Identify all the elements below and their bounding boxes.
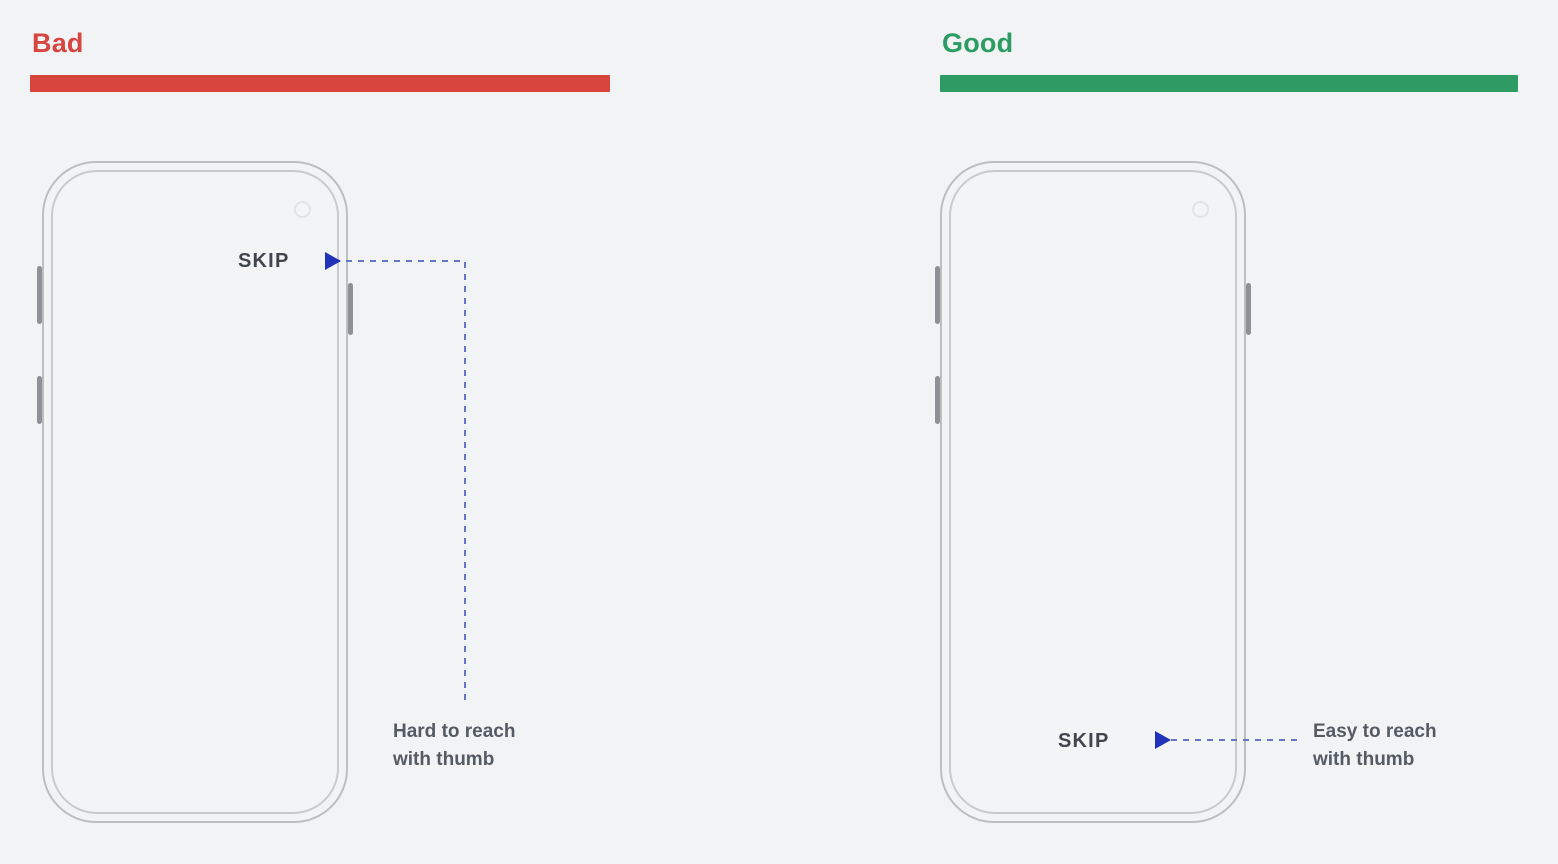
panel-accent-rule-bad: [30, 75, 610, 92]
phone-screen: [51, 170, 339, 814]
volume-button[interactable]: [935, 376, 940, 424]
panel-header-good: Good: [940, 30, 1518, 92]
camera-dot-icon: [294, 201, 311, 218]
volume-button[interactable]: [37, 376, 42, 424]
power-button[interactable]: [348, 283, 353, 335]
panel-accent-rule-good: [940, 75, 1518, 92]
comparison-diagram: Bad Good SKIP SKIP: [0, 0, 1558, 864]
panel-header-bad: Bad: [30, 30, 610, 92]
power-button[interactable]: [1246, 283, 1251, 335]
mute-switch-button[interactable]: [37, 266, 42, 324]
camera-dot-icon: [1192, 201, 1209, 218]
callout-text-bad: Hard to reach with thumb: [393, 718, 515, 773]
phone-mockup-bad: [42, 161, 348, 823]
callout-text-good: Easy to reach with thumb: [1313, 718, 1437, 773]
panel-title-bad: Bad: [32, 30, 610, 57]
skip-button-bad[interactable]: SKIP: [238, 251, 289, 271]
phone-screen: [949, 170, 1237, 814]
panel-title-good: Good: [942, 30, 1518, 57]
skip-button-good[interactable]: SKIP: [1058, 731, 1109, 751]
phone-mockup-good: [940, 161, 1246, 823]
mute-switch-button[interactable]: [935, 266, 940, 324]
